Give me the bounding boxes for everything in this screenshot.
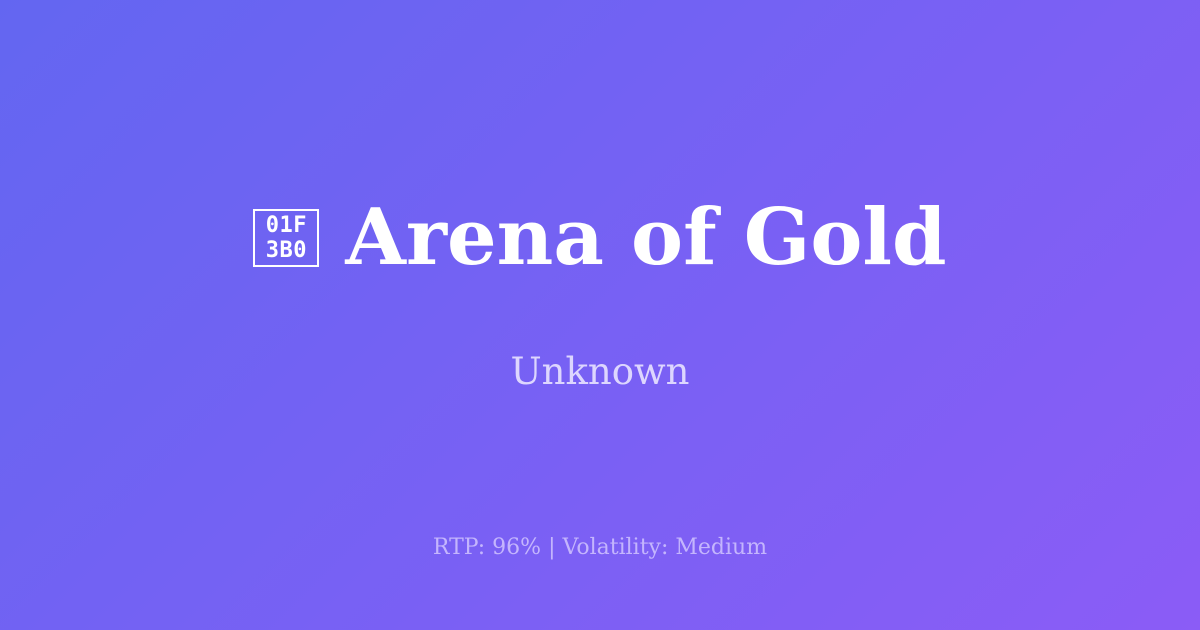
- slot-machine-icon-codepoint-low: 3B0: [266, 238, 307, 263]
- game-provider-subtitle: Unknown: [510, 278, 689, 394]
- title-row: 01F 3B0 Arena of Gold: [0, 198, 1200, 278]
- card-content-stack: 01F 3B0 Arena of Gold Unknown: [0, 198, 1200, 394]
- game-stats-meta: RTP: 96% | Volatility: Medium: [0, 535, 1200, 561]
- slot-machine-icon-codepoint-high: 01F: [266, 213, 307, 238]
- slot-machine-icon: 01F 3B0: [253, 209, 319, 267]
- game-title: Arena of Gold: [345, 198, 946, 278]
- og-share-card: 01F 3B0 Arena of Gold Unknown RTP: 96% |…: [0, 0, 1200, 630]
